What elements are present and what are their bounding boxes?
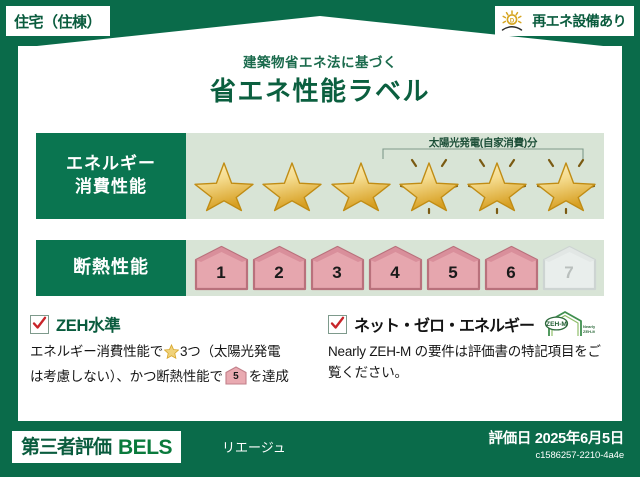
zeh-body-part3: は考慮しない）、かつ断熱性能で [30,369,223,384]
insulation-level-6: 6 [484,245,539,291]
net-zero-energy-note-head: ネット・ゼロ・エネルギー ZEH-M Nearly ZEH-M [328,312,610,336]
net-zero-energy-title: ネット・ゼロ・エネルギー [354,312,534,336]
zeh-standard-title: ZEH水準 [56,312,121,336]
energy-performance-stars-area: 太陽光発電(自家消費)分 [186,133,604,219]
sun-icon: D [501,10,527,32]
zeh-m-logo-main: ZEH-M [546,321,567,328]
footnotes: ZEH水準 エネルギー消費性能で3つ（太陽光発電は考慮しない）、かつ断熱性能で5… [30,312,610,388]
net-zero-energy-checkbox [328,315,347,334]
star-rating-group [186,151,604,217]
energy-performance-row: エネルギー 消費性能 太陽光発電(自家消費)分 [36,133,604,219]
insulation-level-number: 7 [542,264,597,281]
insulation-level-7: 7 [542,245,597,291]
builder-name: リエージュ [222,441,286,454]
insulation-performance-row: 断熱性能 1 2 3 4 [36,240,604,296]
energy-performance-row-label: エネルギー 消費性能 [36,133,186,219]
insulation-level-5: 5 [426,245,481,291]
svg-text:D: D [510,18,515,24]
inline-star-icon [164,344,179,366]
renewable-equipment-badge-label: 再エネ設備あり [532,11,626,31]
insulation-level-4: 4 [368,245,423,291]
title-subtitle: 建築物省エネ法に基づく [0,56,640,71]
insulation-level-2: 2 [252,245,307,291]
footer: 第三者評価 BELS リエージュ 評価日 2025年6月5日 c1586257-… [0,421,640,477]
star-solar [464,153,530,215]
star-solar [533,153,599,215]
zeh-m-logo: ZEH-M Nearly ZEH-M [543,310,595,338]
insulation-level-number: 1 [194,264,249,281]
insulation-level-1: 1 [194,245,249,291]
renewable-equipment-badge: D 再エネ設備あり [495,6,634,36]
insulation-level-number: 5 [426,264,481,281]
title-main: 省エネ性能ラベル [0,77,640,106]
zeh-standard-body: エネルギー消費性能で3つ（太陽光発電は考慮しない）、かつ断熱性能で5を達成 [30,342,312,388]
star-base [259,153,325,215]
net-zero-energy-body: Nearly ZEH-M の要件は評価書の特記項目をご覧ください。 [328,342,610,384]
star-base [328,153,394,215]
inline-insulation-house-icon: 5 [225,366,247,385]
evaluation-id: c1586257-2210-4a4e [488,451,624,461]
third-party-evaluation-label: 第三者評価 [21,438,111,457]
building-type-badge: 住宅（住棟） [6,6,110,36]
insulation-level-number: 3 [310,264,365,281]
insulation-level-3: 3 [310,245,365,291]
zeh-standard-note: ZEH水準 エネルギー消費性能で3つ（太陽光発電は考慮しない）、かつ断熱性能で5… [30,312,312,388]
zeh-standard-checkbox [30,315,49,334]
bels-certification-box: 第三者評価 BELS [12,431,181,463]
title-block: 建築物省エネ法に基づく 省エネ性能ラベル [0,56,640,105]
zeh-body-part2: 3つ（太陽光発電 [180,344,280,359]
star-base [191,153,257,215]
zeh-body-part1: エネルギー消費性能で [30,344,163,359]
star-solar [396,153,462,215]
insulation-performance-scale-area: 1 2 3 4 5 [186,240,604,296]
evaluation-info: 評価日 2025年6月5日 c1586257-2210-4a4e [488,432,624,461]
insulation-level-number: 6 [484,264,539,281]
net-zero-energy-note: ネット・ゼロ・エネルギー ZEH-M Nearly ZEH-M Nearly Z… [328,312,610,388]
insulation-level-number: 4 [368,264,423,281]
energy-performance-label-line2: 消費性能 [75,176,147,199]
insulation-performance-label: 断熱性能 [73,257,149,279]
zeh-standard-note-head: ZEH水準 [30,312,312,336]
bels-mark: BELS [118,437,172,458]
inline-insulation-house-number: 5 [225,372,247,382]
insulation-level-group: 1 2 3 4 5 [186,240,604,296]
building-type-badge-label: 住宅（住棟） [14,11,101,32]
evaluation-date: 評価日 2025年6月5日 [488,432,624,448]
zeh-m-logo-sub2: ZEH-M [583,329,595,334]
energy-performance-label-line1: エネルギー [66,153,156,176]
insulation-performance-row-label: 断熱性能 [36,240,186,296]
zeh-body-part4: を達成 [249,369,289,384]
energy-performance-label: 住宅（住棟） D 再エネ設備あり 建築物省エネ法に基づ [0,0,640,477]
insulation-level-number: 2 [252,264,307,281]
